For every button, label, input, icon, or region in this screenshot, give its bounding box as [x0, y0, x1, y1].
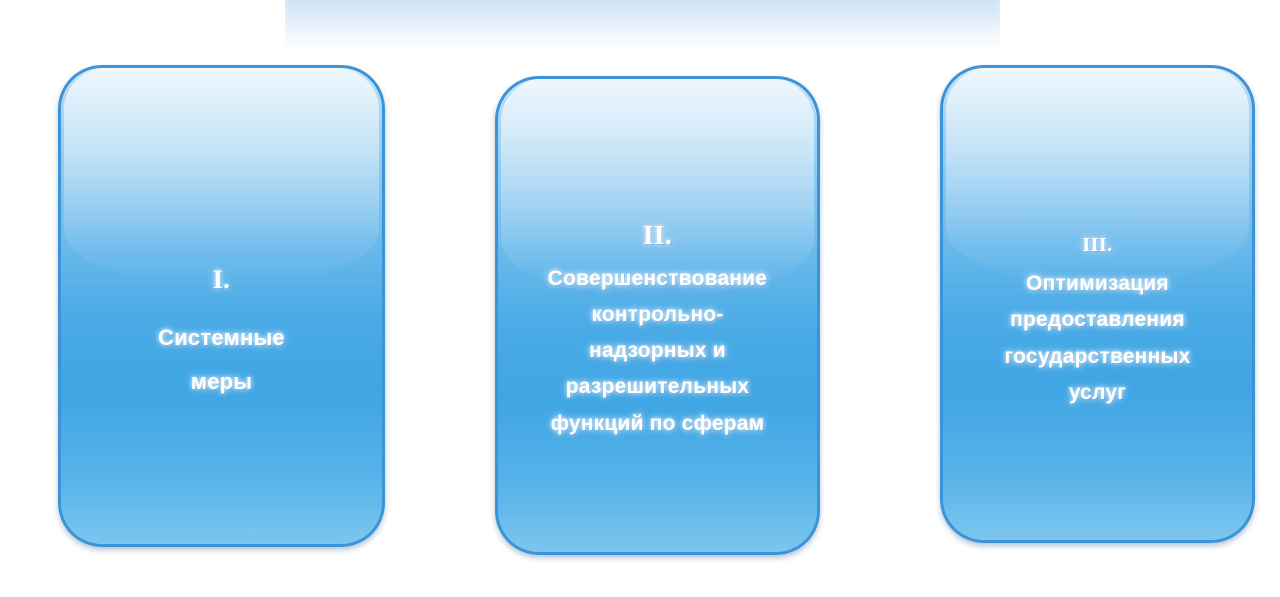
direction-card-3-title-line-2: предоставления — [957, 302, 1238, 338]
background-gradient-band — [285, 0, 1000, 52]
direction-card-3[interactable]: III. Оптимизация предоставления государс… — [940, 65, 1255, 543]
direction-card-1-body: I. Системные меры — [61, 208, 382, 405]
direction-card-3-title: Оптимизация предоставления государственн… — [957, 266, 1238, 410]
direction-card-2-numeral: II. — [512, 219, 803, 253]
background-band-left-fade — [255, 0, 291, 52]
direction-card-2-body: II. Совершенствование контрольно- надзор… — [498, 189, 817, 441]
direction-card-3-title-line-4: услуг — [957, 375, 1238, 411]
direction-card-1[interactable]: I. Системные меры — [58, 65, 385, 547]
direction-card-2-title-line-1: Совершенствование — [512, 261, 803, 297]
direction-card-1-title-line-2: меры — [75, 360, 368, 404]
direction-card-3-body: III. Оптимизация предоставления государс… — [943, 197, 1252, 410]
direction-card-3-numeral: III. — [957, 233, 1238, 258]
direction-card-2-title-line-3: надзорных и — [512, 333, 803, 369]
direction-card-3-title-line-3: государственных — [957, 339, 1238, 375]
direction-card-2-title-line-4: разрешительных — [512, 369, 803, 405]
direction-card-2[interactable]: II. Совершенствование контрольно- надзор… — [495, 76, 820, 555]
direction-card-3-title-line-1: Оптимизация — [957, 266, 1238, 302]
direction-card-2-title-line-2: контрольно- — [512, 297, 803, 333]
background-band-right-fade — [994, 0, 1034, 52]
direction-card-2-title-line-5: функций по сферам — [512, 406, 803, 442]
direction-card-1-numeral: I. — [75, 264, 368, 297]
direction-card-1-title: Системные меры — [75, 316, 368, 404]
direction-card-1-title-line-1: Системные — [75, 316, 368, 360]
direction-card-2-title: Совершенствование контрольно- надзорных … — [512, 261, 803, 442]
slide-canvas: I. Системные меры II. Совершенствование … — [0, 0, 1280, 597]
